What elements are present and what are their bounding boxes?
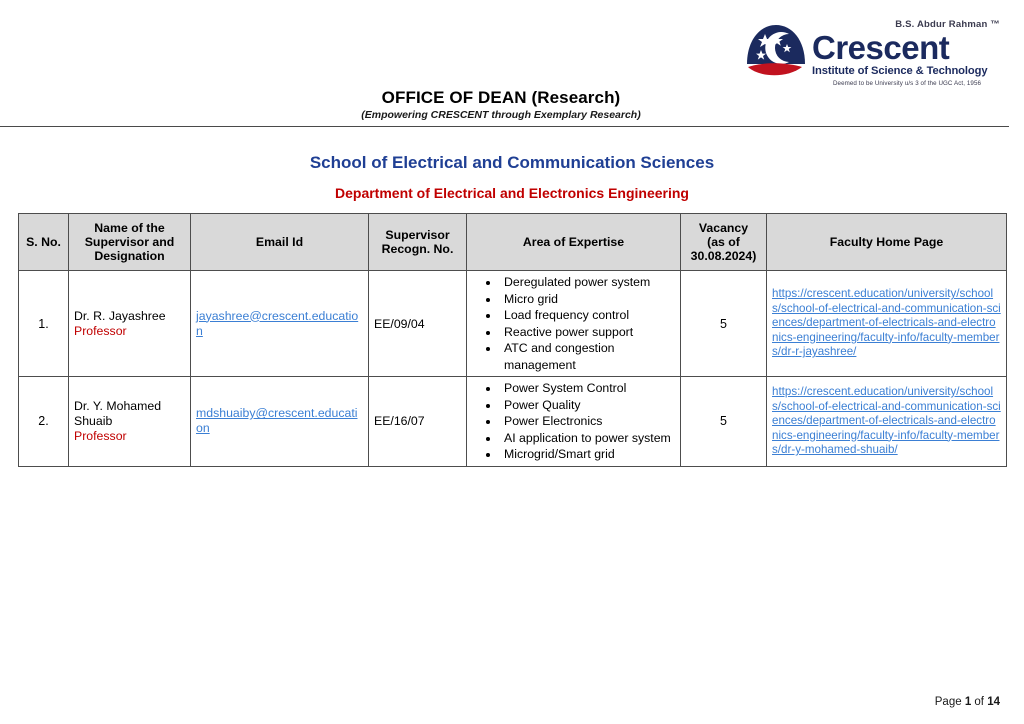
department-title: Department of Electrical and Electronics… <box>0 185 1024 201</box>
list-item: Power Electronics <box>500 413 675 430</box>
cell-recognition-no: EE/16/07 <box>369 377 467 467</box>
cell-sno: 2. <box>19 377 69 467</box>
logo-tagline: Institute of Science & Technology <box>812 65 1002 78</box>
header-divider <box>0 126 1009 127</box>
cell-faculty-home-page: https://crescent.education/university/sc… <box>767 271 1007 377</box>
expertise-list: Power System Control Power Quality Power… <box>472 380 675 463</box>
list-item: Power Quality <box>500 397 675 414</box>
list-item: ATC and congestion management <box>500 340 675 373</box>
footer-total-pages: 14 <box>987 696 1000 708</box>
faculty-home-page-link[interactable]: https://crescent.education/university/sc… <box>772 287 1001 358</box>
cell-area-of-expertise: Deregulated power system Micro grid Load… <box>467 271 681 377</box>
column-header-email: Email Id <box>191 214 369 271</box>
cell-sno: 1. <box>19 271 69 377</box>
cell-recognition-no: EE/09/04 <box>369 271 467 377</box>
cell-supervisor-name: Dr. Y. Mohamed Shuaib Professor <box>69 377 191 467</box>
column-header-area: Area of Expertise <box>467 214 681 271</box>
list-item: Micro grid <box>500 291 675 308</box>
supervisor-name: Dr. R. Jayashree <box>74 309 185 324</box>
letterhead: B.S. Abdur Rahman ™ Crescent Institute o… <box>0 0 1024 130</box>
column-header-recognition: Supervisor Recogn. No. <box>369 214 467 271</box>
list-item: Power System Control <box>500 380 675 397</box>
column-header-sno: S. No. <box>19 214 69 271</box>
office-subtitle: (Empowering CRESCENT through Exemplary R… <box>0 109 1002 121</box>
supervisor-designation: Professor <box>74 324 185 339</box>
faculty-home-page-link[interactable]: https://crescent.education/university/sc… <box>772 385 1001 456</box>
page-number-footer: Page 1 of 14 <box>935 696 1000 708</box>
crescent-logo: B.S. Abdur Rahman ™ Crescent Institute o… <box>744 18 1002 90</box>
supervisor-designation: Professor <box>74 429 185 444</box>
cell-area-of-expertise: Power System Control Power Quality Power… <box>467 377 681 467</box>
email-link[interactable]: jayashree@crescent.education <box>196 309 358 338</box>
cell-faculty-home-page: https://crescent.education/university/sc… <box>767 377 1007 467</box>
faculty-supervisors-table: S. No. Name of the Supervisor and Design… <box>18 213 1007 467</box>
table-row: 1. Dr. R. Jayashree Professor jayashree@… <box>19 271 1007 377</box>
supervisor-name: Dr. Y. Mohamed Shuaib <box>74 399 185 429</box>
list-item: Load frequency control <box>500 307 675 324</box>
list-item: Deregulated power system <box>500 274 675 291</box>
cell-vacancy: 5 <box>681 377 767 467</box>
table-row: 2. Dr. Y. Mohamed Shuaib Professor mdshu… <box>19 377 1007 467</box>
list-item: AI application to power system <box>500 430 675 447</box>
column-header-name: Name of the Supervisor and Designation <box>69 214 191 271</box>
list-item: Microgrid/Smart grid <box>500 446 675 463</box>
email-link[interactable]: mdshuaiby@crescent.education <box>196 406 358 435</box>
cell-email: jayashree@crescent.education <box>191 271 369 377</box>
footer-prefix: Page <box>935 696 965 708</box>
list-item: Reactive power support <box>500 324 675 341</box>
expertise-list: Deregulated power system Micro grid Load… <box>472 274 675 373</box>
column-header-home-page: Faculty Home Page <box>767 214 1007 271</box>
logo-wordmark: Crescent <box>812 31 1002 64</box>
office-title: OFFICE OF DEAN (Research) <box>0 88 1002 108</box>
cell-email: mdshuaiby@crescent.education <box>191 377 369 467</box>
school-title: School of Electrical and Communication S… <box>0 153 1024 173</box>
table-body: 1. Dr. R. Jayashree Professor jayashree@… <box>19 271 1007 467</box>
logo-accreditation: Deemed to be University u/s 3 of the UGC… <box>812 80 1002 88</box>
cell-vacancy: 5 <box>681 271 767 377</box>
footer-middle: of <box>971 696 987 708</box>
crescent-dome-icon <box>744 20 808 82</box>
cell-supervisor-name: Dr. R. Jayashree Professor <box>69 271 191 377</box>
table-header-row: S. No. Name of the Supervisor and Design… <box>19 214 1007 271</box>
column-header-vacancy: Vacancy (as of 30.08.2024) <box>681 214 767 271</box>
